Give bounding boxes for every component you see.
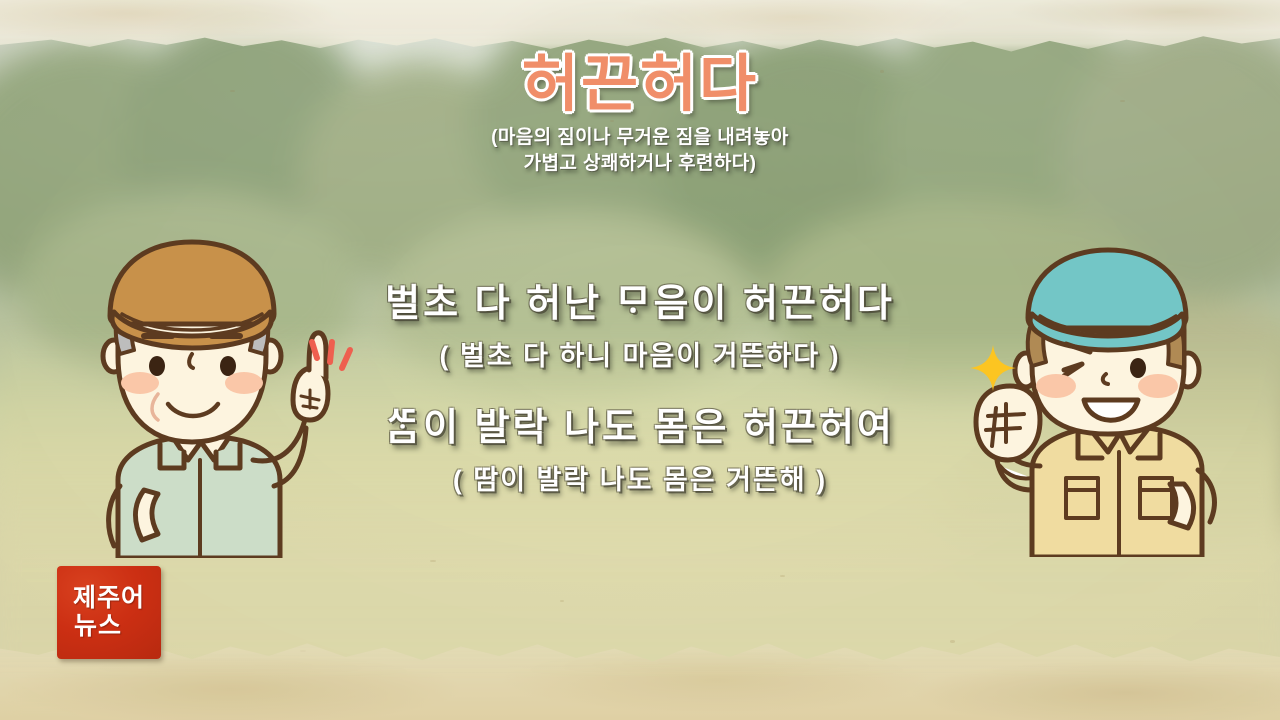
example-jeju-text: 벌초 다 허난 ᄆᆞ음이 허끈허다 — [0, 282, 1280, 328]
example-sentences: 벌초 다 허난 ᄆᆞ음이 허끈허다 ( 벌초 다 하니 마음이 거뜬하다 ) ᄯ… — [0, 282, 1280, 530]
headword-definition: (마음의 짐이나 무거운 짐을 내려놓아 가볍고 상쾌하거나 후련하다) — [0, 125, 1280, 176]
logo-line-1: 제주어 — [73, 585, 145, 611]
example-standard-text: ( 땀이 발락 나도 몸은 거뜬해 ) — [0, 464, 1280, 496]
example-item: ᄯᆞᆷ이 발락 나도 몸은 허끈허여 ( 땀이 발락 나도 몸은 거뜬해 ) — [0, 406, 1280, 496]
example-jeju-text: ᄯᆞᆷ이 발락 나도 몸은 허끈허여 — [0, 406, 1280, 452]
logo-line-2: 뉴스 — [74, 613, 122, 641]
program-logo: 제주어 뉴스 — [57, 566, 161, 659]
headword-term: 허끈허다 — [0, 52, 1280, 117]
example-item: 벌초 다 허난 ᄆᆞ음이 허끈허다 ( 벌초 다 하니 마음이 거뜬하다 ) — [0, 282, 1280, 372]
headword-block: 허끈허다 (마음의 짐이나 무거운 짐을 내려놓아 가볍고 상쾌하거나 후련하다… — [0, 52, 1280, 176]
definition-line-1: (마음의 짐이나 무거운 짐을 내려놓아 — [0, 125, 1280, 151]
video-frame: 허끈허다 (마음의 짐이나 무거운 짐을 내려놓아 가볍고 상쾌하거나 후련하다… — [0, 0, 1280, 720]
definition-line-2: 가볍고 상쾌하거나 후련하다) — [0, 151, 1280, 177]
example-standard-text: ( 벌초 다 하니 마음이 거뜬하다 ) — [0, 340, 1280, 372]
